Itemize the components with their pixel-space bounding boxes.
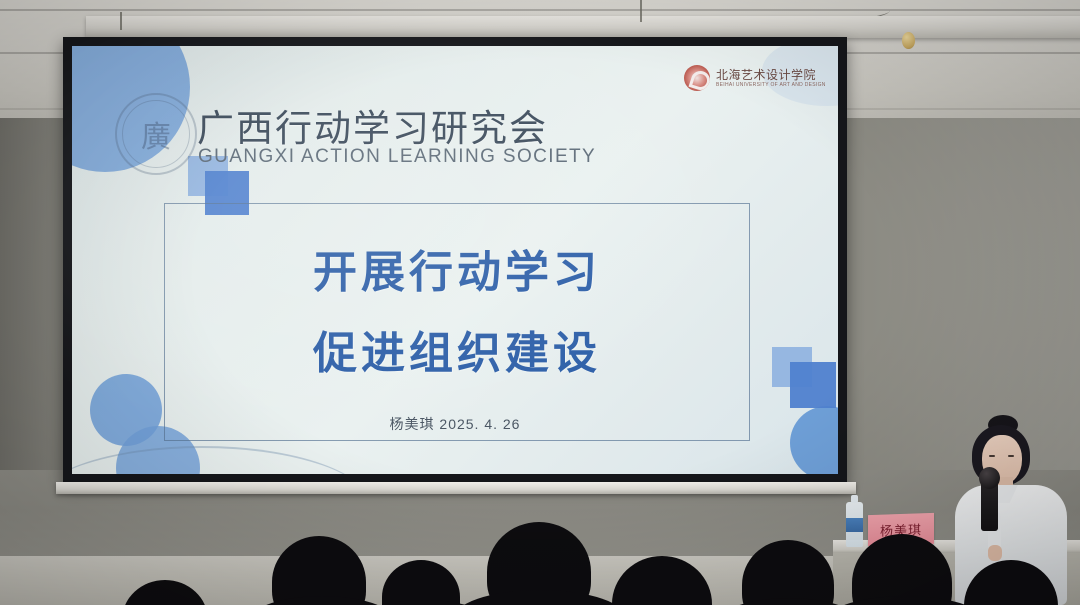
projector-screen-housing bbox=[86, 16, 1080, 38]
slide-headline-line-2: 促进组织建设 bbox=[165, 317, 749, 381]
slide-content-box: 开展行动学习 促进组织建设 bbox=[164, 203, 750, 441]
slide-byline: 杨美琪 2025. 4. 26 bbox=[72, 414, 838, 434]
slide-org-title-en: GUANGXI ACTION LEARNING SOCIETY bbox=[198, 146, 596, 168]
photo-scene: 廣 广西行动学习研究会 GUANGXI ACTION LEARNING SOCI… bbox=[0, 0, 1080, 605]
presenter-eye-right bbox=[1008, 455, 1014, 457]
seal-glyph: 廣 bbox=[117, 95, 195, 173]
projection-screen-frame: 廣 广西行动学习研究会 GUANGXI ACTION LEARNING SOCI… bbox=[63, 37, 847, 483]
slide-org-title-cn: 广西行动学习研究会 bbox=[197, 98, 548, 152]
university-logo-text: 北海艺术设计学院 BEIHAI UNIVERSITY OF ART AND DE… bbox=[716, 69, 826, 88]
decor-arc-bottom bbox=[72, 446, 372, 474]
water-bottle bbox=[846, 502, 863, 547]
decor-square-dark-bottom bbox=[790, 362, 836, 408]
water-bottle-label bbox=[846, 518, 863, 532]
ceiling-hook-center bbox=[640, 0, 642, 22]
ceiling-bulb bbox=[902, 32, 915, 49]
presenter-eye-left bbox=[989, 455, 995, 457]
ceiling-hook-left bbox=[120, 12, 122, 30]
university-logo: 北海艺术设计学院 BEIHAI UNIVERSITY OF ART AND DE… bbox=[684, 61, 836, 95]
microphone-head-icon bbox=[979, 467, 1000, 489]
presenter-hand bbox=[988, 545, 1002, 561]
presentation-slide: 廣 广西行动学习研究会 GUANGXI ACTION LEARNING SOCI… bbox=[72, 46, 838, 474]
university-swirl-icon bbox=[684, 65, 710, 91]
slide-headline-line-1: 开展行动学习 bbox=[165, 236, 749, 300]
wall-left-shadow bbox=[0, 118, 66, 518]
projection-screen-bottom-bar bbox=[56, 482, 856, 494]
university-name-en: BEIHAI UNIVERSITY OF ART AND DESIGN bbox=[716, 83, 826, 88]
university-name-cn: 北海艺术设计学院 bbox=[716, 69, 826, 81]
wall-seam-1 bbox=[0, 9, 1080, 11]
society-seal-icon: 廣 bbox=[115, 93, 197, 175]
